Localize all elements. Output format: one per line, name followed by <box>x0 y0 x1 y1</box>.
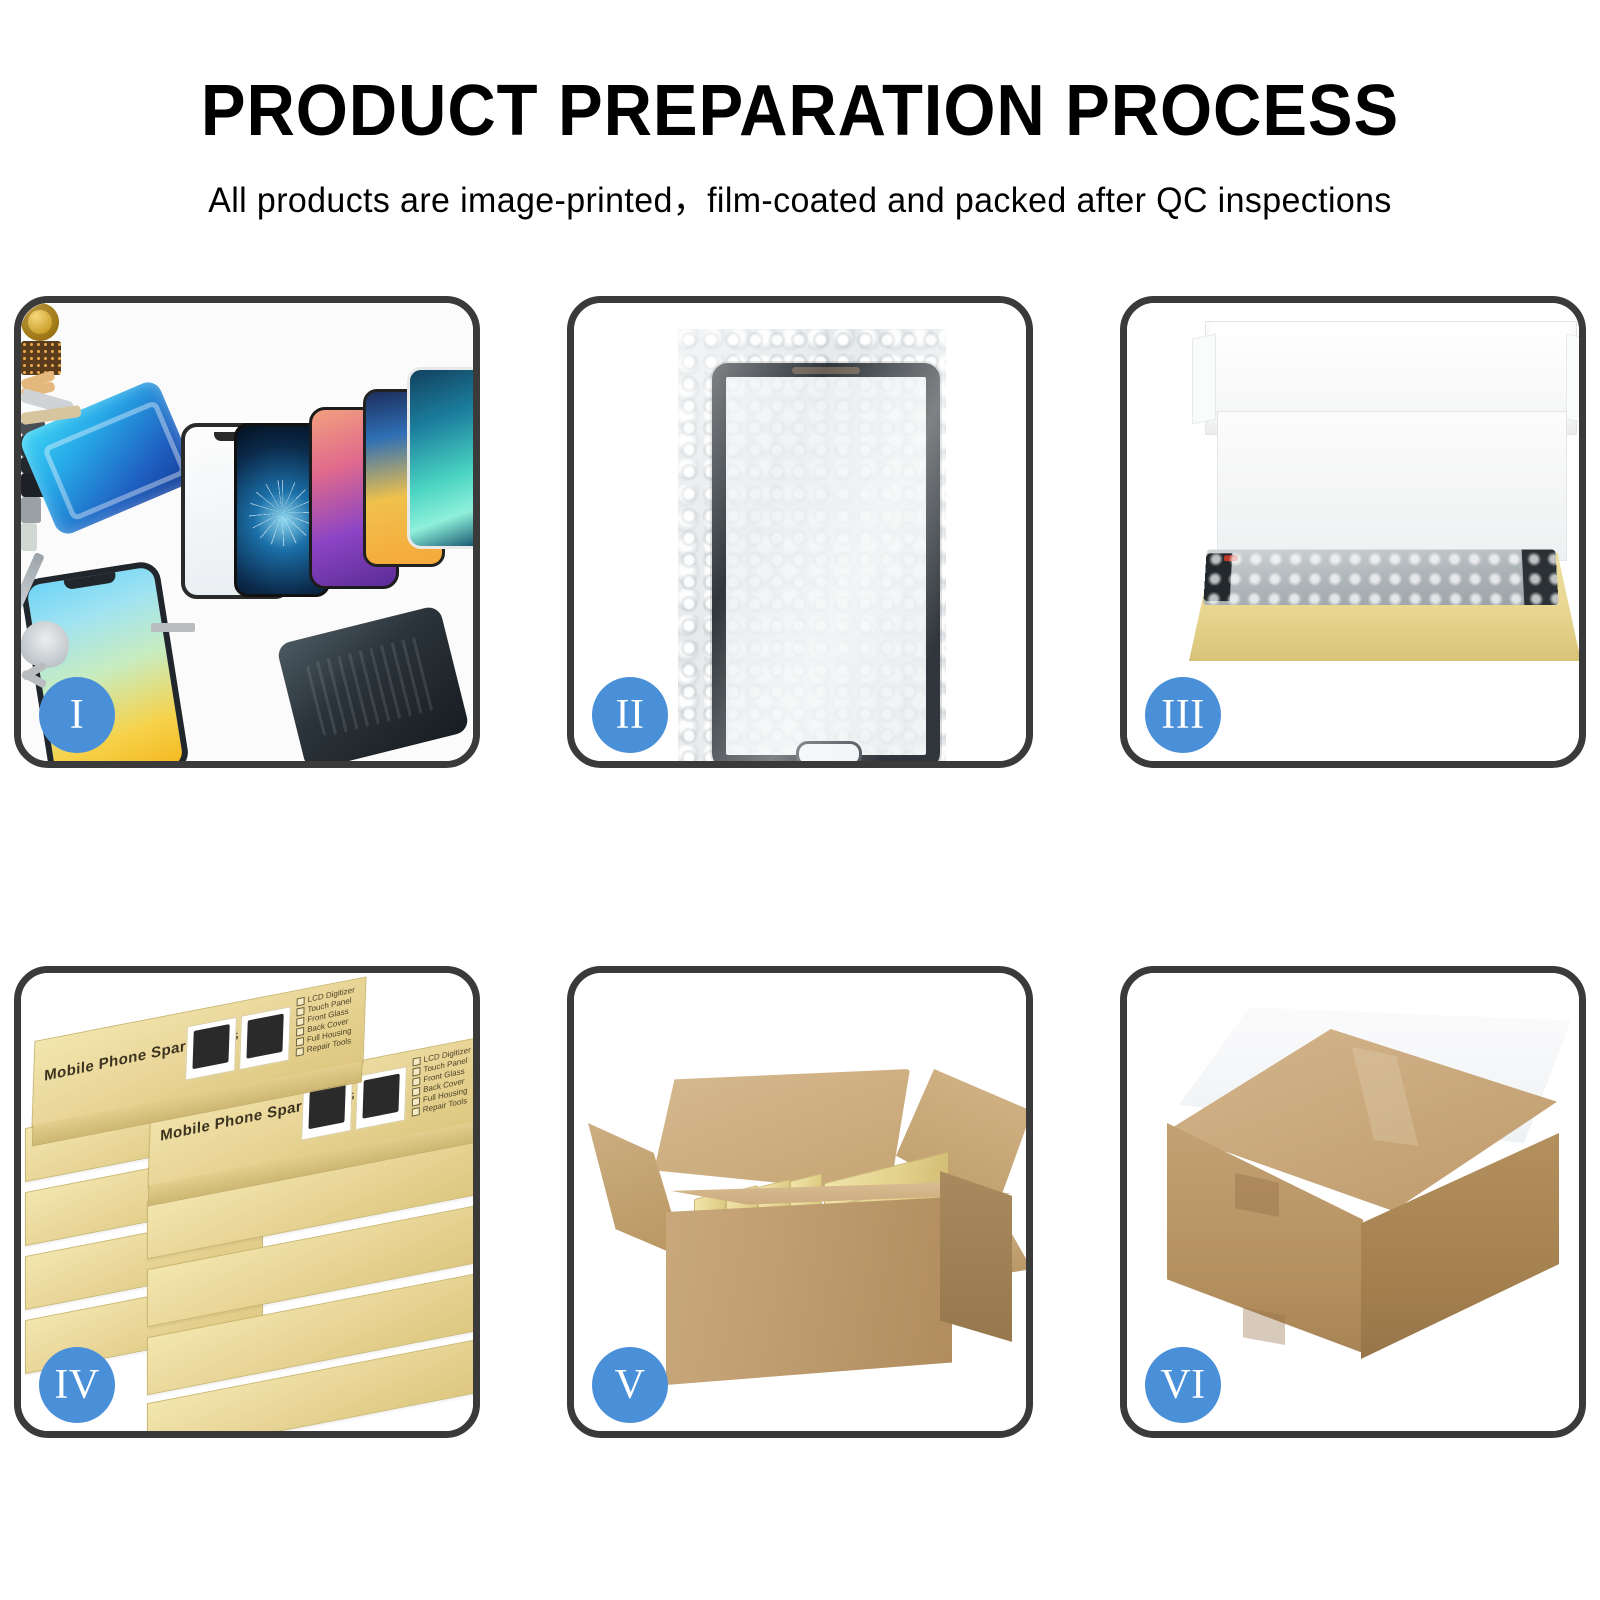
step-panel-6[interactable]: VI <box>1120 966 1586 1438</box>
step-badge-4: IV <box>39 1347 115 1423</box>
page-title: PRODUCT PREPARATION PROCESS <box>56 74 1544 150</box>
carton-body <box>666 1197 952 1385</box>
step-badge-5: V <box>592 1347 668 1423</box>
retail-box-checklist: LCD Digitizer Touch Panel Front Glass Ba… <box>412 1045 471 1117</box>
phone-back-housing-graphic <box>276 605 470 761</box>
process-steps-grid: I II <box>14 296 1586 1438</box>
checkbox-icon <box>296 1006 304 1016</box>
foam-liner-graphic <box>1217 411 1567 561</box>
step-panel-3[interactable]: III <box>1120 296 1586 768</box>
wireless-charging-coil-graphic <box>21 303 59 341</box>
retail-box-product-photo <box>185 1017 237 1081</box>
page-subtitle: All products are image-printed，film-coat… <box>24 172 1576 223</box>
carton-side <box>940 1171 1012 1349</box>
step-panel-5[interactable]: V <box>567 966 1033 1438</box>
checkbox-icon <box>412 1086 420 1096</box>
checkbox-icon <box>412 1076 420 1086</box>
step-badge-2: II <box>592 677 668 753</box>
teal-phone-graphic <box>407 367 473 549</box>
checkbox-icon <box>296 1036 304 1046</box>
checkbox-icon <box>412 1107 420 1117</box>
retail-box-checklist: LCD Digitizer Touch Panel Front Glass Ba… <box>296 985 355 1057</box>
checkbox-icon <box>412 1056 420 1066</box>
checkbox-icon <box>412 1096 420 1106</box>
checkbox-icon <box>412 1066 420 1076</box>
small-component-graphic <box>21 497 41 523</box>
checkbox-icon <box>296 996 304 1006</box>
ic-chip-graphic <box>21 341 61 375</box>
step-panel-4[interactable]: Mobile Phone Spare Parts LCD Digitizer T… <box>14 966 480 1438</box>
home-button-graphic <box>796 741 862 761</box>
step-badge-6: VI <box>1145 1347 1221 1423</box>
bubble-wrap-graphic <box>678 329 946 761</box>
retail-box-product-photo <box>239 1006 291 1070</box>
packed-screen-graphic <box>1203 549 1558 605</box>
step-panel-1[interactable]: I <box>14 296 480 768</box>
checkbox-icon <box>296 1026 304 1036</box>
step-badge-1: I <box>39 677 115 753</box>
step-badge-3: III <box>1145 677 1221 753</box>
wrapped-screen-graphic <box>712 363 940 761</box>
sim-tray-graphic <box>21 523 37 551</box>
screen-edge-left-graphic <box>1204 553 1233 601</box>
flex-cable-graphic <box>151 623 195 632</box>
retail-box-product-photo <box>355 1066 407 1130</box>
header: PRODUCT PREPARATION PROCESS All products… <box>0 0 1600 223</box>
checkbox-icon <box>296 1047 304 1057</box>
screen-edge-right-graphic <box>1522 549 1559 605</box>
checkbox-icon <box>296 1016 304 1026</box>
earpiece-slot-graphic <box>792 367 860 374</box>
red-marker-graphic <box>1224 555 1238 561</box>
step-panel-2[interactable]: II <box>567 296 1033 768</box>
